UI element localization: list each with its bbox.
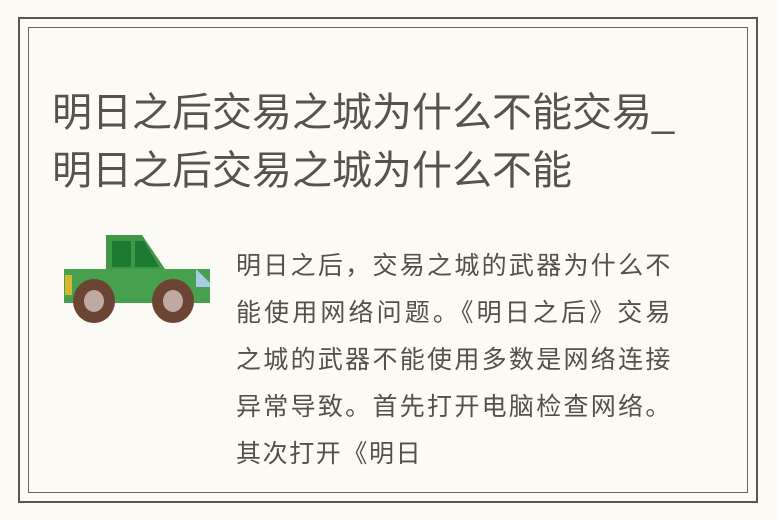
- page-title: 明日之后交易之城为什么不能交易_明日之后交易之城为什么不能: [52, 84, 712, 200]
- article-content: 明日之后，交易之城的武器为什么不能使用网络问题。《明日之后》交易之城的武器不能使…: [40, 205, 730, 475]
- article-card: 明日之后交易之城为什么不能交易_明日之后交易之城为什么不能: [0, 0, 777, 520]
- article-body-text: 明日之后，交易之城的武器为什么不能使用网络问题。《明日之后》交易之城的武器不能使…: [236, 242, 672, 477]
- green-pickup-truck-icon: [62, 225, 222, 325]
